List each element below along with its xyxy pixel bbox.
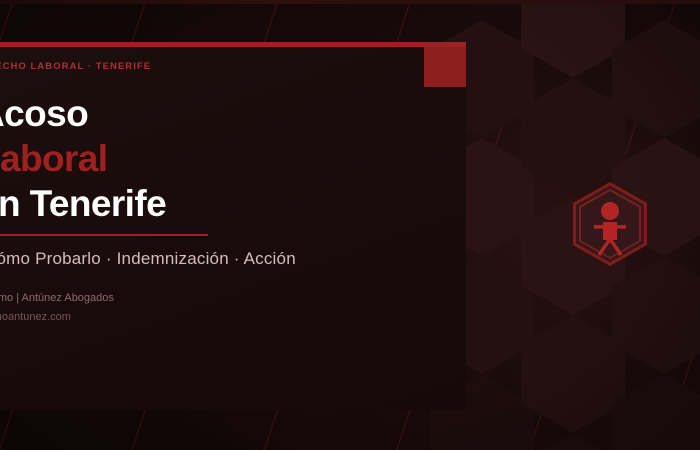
title-line-1: Acoso	[0, 95, 166, 132]
person-icon	[573, 182, 647, 266]
eyebrow-label: DERECHO LABORAL · TENERIFE	[0, 61, 151, 72]
page-title: Acoso Laboral en Tenerife	[0, 95, 166, 222]
title-line-2: Laboral	[0, 140, 166, 177]
accent-square	[424, 47, 466, 87]
person-badge	[573, 182, 647, 266]
title-line-3: en Tenerife	[0, 185, 166, 222]
top-edge-strip	[0, 0, 700, 4]
subtitle-text: Cómo Probarlo · Indemnización · Acción	[0, 249, 296, 269]
promo-banner: DERECHO LABORAL · TENERIFE Acoso Laboral…	[0, 0, 700, 450]
website-text: alamoantunez.com	[0, 311, 71, 323]
byline-text: Alamo | Antúnez Abogados	[0, 292, 114, 304]
title-divider	[0, 234, 208, 236]
